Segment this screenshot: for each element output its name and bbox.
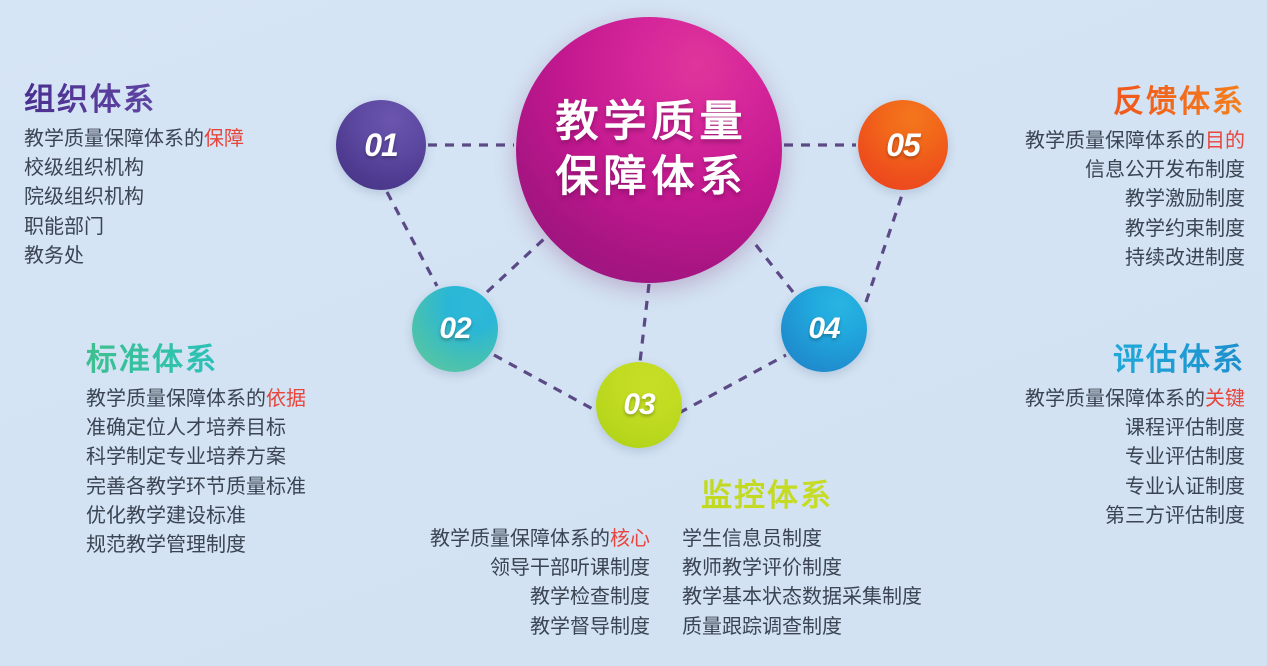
list-item: 质量跟踪调查制度 (682, 613, 972, 642)
block-organization: 组织体系 教学质量保障体系的保障 校级组织机构 院级组织机构 职能部门 教务处 (24, 74, 244, 271)
subtitle-prefix: 教学质量保障体系的 (1025, 388, 1205, 410)
list-item: 专业认证制度 (1025, 473, 1245, 502)
connector-02-03 (494, 355, 600, 413)
connector-02-hub (487, 238, 545, 292)
list-item-subtitle: 教学质量保障体系的依据 (86, 385, 306, 414)
list-item: 优化教学建设标准 (86, 502, 306, 531)
list-item: 第三方评估制度 (1025, 502, 1245, 531)
block-monitoring: 监控体系 教学质量保障体系的核心 领导干部听课制度 教学检查制度 教学督导制度 … (372, 470, 972, 642)
list-item: 教务处 (24, 242, 244, 271)
list-item: 课程评估制度 (1025, 414, 1245, 443)
list-monitoring-right: 学生信息员制度 教师教学评价制度 教学基本状态数据采集制度 质量跟踪调查制度 (682, 525, 972, 642)
list-item: 学生信息员制度 (682, 525, 972, 554)
list-item: 持续改进制度 (1025, 244, 1245, 273)
hub-title-line-1: 教学质量 (551, 95, 748, 150)
subtitle-prefix: 教学质量保障体系的 (24, 128, 204, 150)
list-item: 教学激励制度 (1025, 185, 1245, 214)
block-standards: 标准体系 教学质量保障体系的依据 准确定位人才培养目标 科学制定专业培养方案 完… (86, 334, 306, 560)
node-01[interactable]: 01 (336, 100, 426, 190)
connector-01-02 (387, 192, 437, 286)
list-item-subtitle: 教学质量保障体系的核心 (372, 525, 650, 554)
connector-04-05 (866, 192, 903, 302)
node-04[interactable]: 04 (781, 286, 867, 372)
subtitle-keyword: 核心 (610, 528, 650, 550)
heading-organization: 组织体系 (24, 74, 244, 119)
heading-feedback: 反馈体系 (1025, 76, 1245, 121)
subtitle-keyword: 依据 (266, 388, 306, 410)
infographic-canvas: 教学质量 保障体系 01 02 03 04 05 组织体系 教学质量保障体系的保… (0, 0, 1267, 666)
subtitle-prefix: 教学质量保障体系的 (430, 528, 610, 550)
heading-standards: 标准体系 (86, 334, 306, 379)
subtitle-keyword: 关键 (1205, 388, 1245, 410)
list-item: 教学督导制度 (372, 613, 650, 642)
subtitle-prefix: 教学质量保障体系的 (86, 388, 266, 410)
list-item: 信息公开发布制度 (1025, 156, 1245, 185)
list-organization: 教学质量保障体系的保障 校级组织机构 院级组织机构 职能部门 教务处 (24, 125, 244, 271)
subtitle-prefix: 教学质量保障体系的 (1025, 130, 1205, 152)
list-item-subtitle: 教学质量保障体系的目的 (1025, 127, 1245, 156)
list-item: 教学检查制度 (372, 583, 650, 612)
connector-hub-03 (640, 284, 649, 362)
list-item: 专业评估制度 (1025, 443, 1245, 472)
list-item: 院级组织机构 (24, 183, 244, 212)
heading-monitoring: 监控体系 (562, 470, 972, 515)
list-monitoring-left: 教学质量保障体系的核心 领导干部听课制度 教学检查制度 教学督导制度 (372, 525, 650, 642)
connector-04-hub (752, 240, 793, 292)
subtitle-keyword: 保障 (204, 128, 244, 150)
list-item: 校级组织机构 (24, 154, 244, 183)
node-05[interactable]: 05 (858, 100, 948, 190)
connector-03-04 (679, 355, 786, 413)
list-item: 完善各教学环节质量标准 (86, 473, 306, 502)
list-item: 教师教学评价制度 (682, 554, 972, 583)
list-standards: 教学质量保障体系的依据 准确定位人才培养目标 科学制定专业培养方案 完善各教学环… (86, 385, 306, 560)
list-feedback: 教学质量保障体系的目的 信息公开发布制度 教学激励制度 教学约束制度 持续改进制… (1025, 127, 1245, 273)
list-item: 职能部门 (24, 213, 244, 242)
list-item: 规范教学管理制度 (86, 531, 306, 560)
list-item: 科学制定专业培养方案 (86, 443, 306, 472)
block-feedback: 反馈体系 教学质量保障体系的目的 信息公开发布制度 教学激励制度 教学约束制度 … (1025, 76, 1245, 273)
list-item: 领导干部听课制度 (372, 554, 650, 583)
monitoring-columns: 教学质量保障体系的核心 领导干部听课制度 教学检查制度 教学督导制度 学生信息员… (372, 525, 972, 642)
hub-title-line-2: 保障体系 (551, 150, 748, 205)
node-02[interactable]: 02 (412, 286, 498, 372)
subtitle-keyword: 目的 (1205, 130, 1245, 152)
block-evaluation: 评估体系 教学质量保障体系的关键 课程评估制度 专业评估制度 专业认证制度 第三… (1025, 334, 1245, 531)
list-item: 准确定位人才培养目标 (86, 414, 306, 443)
node-03[interactable]: 03 (596, 362, 682, 448)
heading-evaluation: 评估体系 (1025, 334, 1245, 379)
list-item: 教学基本状态数据采集制度 (682, 583, 972, 612)
list-evaluation: 教学质量保障体系的关键 课程评估制度 专业评估制度 专业认证制度 第三方评估制度 (1025, 385, 1245, 531)
list-item-subtitle: 教学质量保障体系的保障 (24, 125, 244, 154)
list-item: 教学约束制度 (1025, 215, 1245, 244)
hub-circle[interactable]: 教学质量 保障体系 (516, 17, 782, 283)
list-item-subtitle: 教学质量保障体系的关键 (1025, 385, 1245, 414)
